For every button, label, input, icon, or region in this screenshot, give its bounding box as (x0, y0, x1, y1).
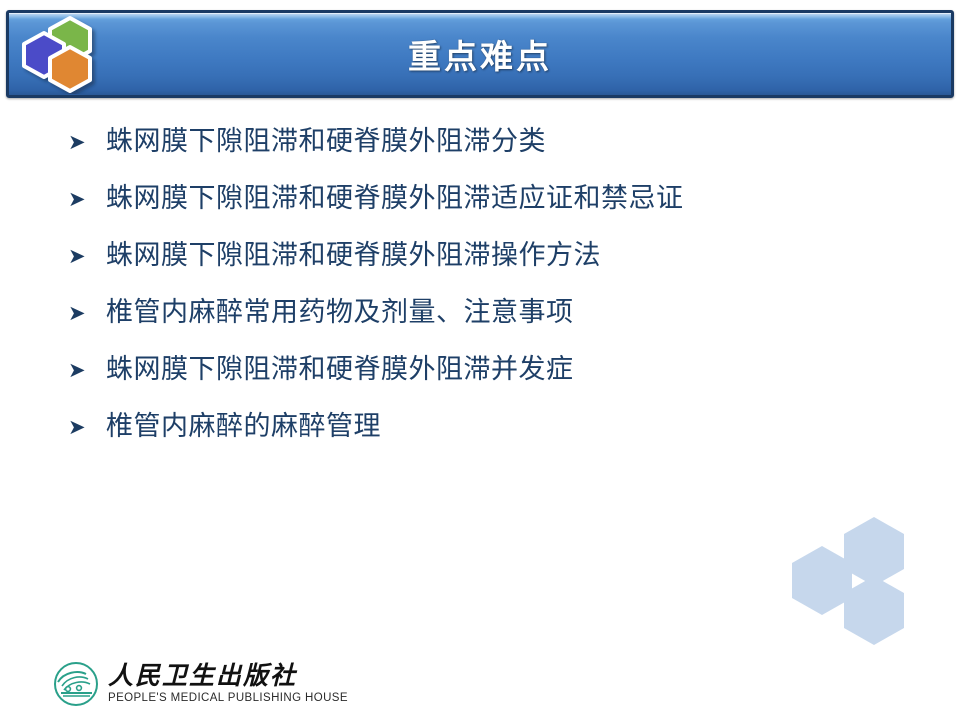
list-item: ➤ 椎管内麻醉的麻醉管理 (68, 411, 918, 468)
list-item: ➤ 蛛网膜下隙阻滞和硬脊膜外阻滞分类 (68, 126, 918, 183)
publisher-name-cn: 人民卫生出版社 (108, 663, 348, 689)
page-title: 重点难点 (9, 30, 951, 78)
arrow-bullet-icon: ➤ (68, 360, 106, 381)
list-item-label: 蛛网膜下隙阻滞和硬脊膜外阻滞适应证和禁忌证 (106, 183, 918, 215)
slide-canvas: 重点难点 ➤ 蛛网膜下隙阻滞和硬脊膜外阻滞分类 (0, 0, 960, 720)
orange-hexagon-icon (50, 47, 90, 91)
arrow-bullet-icon: ➤ (68, 417, 106, 438)
bullet-list: ➤ 蛛网膜下隙阻滞和硬脊膜外阻滞分类 ➤ 蛛网膜下隙阻滞和硬脊膜外阻滞适应证和禁… (68, 126, 918, 468)
publisher-mark-icon (52, 660, 100, 708)
publisher-name-en: PEOPLE'S MEDICAL PUBLISHING HOUSE (108, 691, 348, 706)
arrow-bullet-icon: ➤ (68, 189, 106, 210)
list-item-label: 蛛网膜下隙阻滞和硬脊膜外阻滞并发症 (106, 354, 918, 386)
header-hexagon-logo (14, 14, 110, 94)
decoration-hexagon-icon (844, 517, 904, 586)
list-item: ➤ 蛛网膜下隙阻滞和硬脊膜外阻滞适应证和禁忌证 (68, 183, 918, 240)
publisher-text: 人民卫生出版社 PEOPLE'S MEDICAL PUBLISHING HOUS… (108, 663, 348, 708)
decoration-hexagon-icon (844, 576, 904, 645)
list-item-label: 椎管内麻醉的麻醉管理 (106, 411, 918, 443)
arrow-bullet-icon: ➤ (68, 303, 106, 324)
list-item-label: 蛛网膜下隙阻滞和硬脊膜外阻滞分类 (106, 126, 918, 158)
arrow-bullet-icon: ➤ (68, 246, 106, 267)
list-item: ➤ 蛛网膜下隙阻滞和硬脊膜外阻滞操作方法 (68, 240, 918, 297)
list-item-label: 椎管内麻醉常用药物及剂量、注意事项 (106, 297, 918, 329)
list-item: ➤ 蛛网膜下隙阻滞和硬脊膜外阻滞并发症 (68, 354, 918, 411)
publisher-logo: 人民卫生出版社 PEOPLE'S MEDICAL PUBLISHING HOUS… (52, 652, 348, 708)
list-item: ➤ 椎管内麻醉常用药物及剂量、注意事项 (68, 297, 918, 354)
hexagon-decoration (782, 513, 922, 658)
slide-title-bar: 重点难点 (6, 10, 954, 98)
list-item-label: 蛛网膜下隙阻滞和硬脊膜外阻滞操作方法 (106, 240, 918, 272)
arrow-bullet-icon: ➤ (68, 132, 106, 153)
decoration-hexagon-icon (792, 546, 852, 615)
